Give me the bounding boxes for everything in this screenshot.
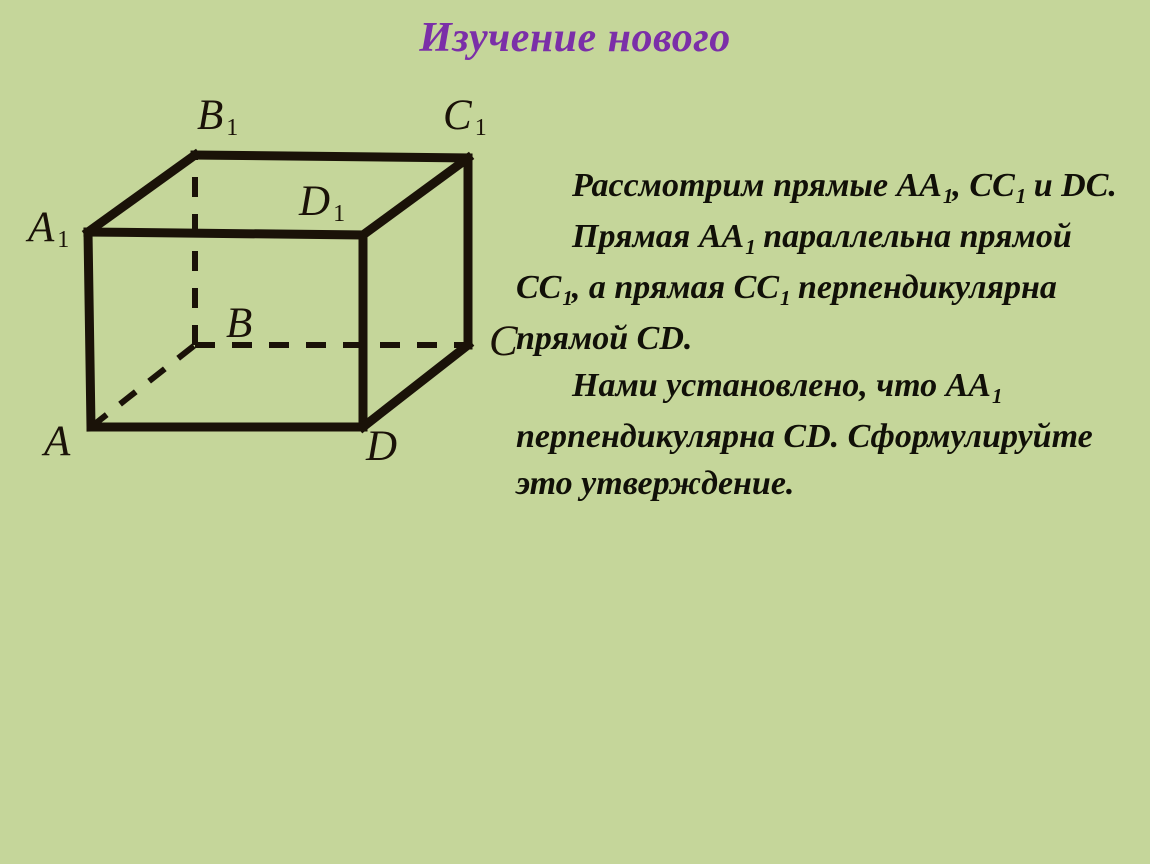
vertex-label-a: A [44, 420, 70, 463]
edge-A-B-dashed [91, 345, 195, 427]
edge-A1-A [88, 232, 91, 427]
edge-D-C [363, 345, 468, 427]
vertex-label-a1: A1 [28, 206, 66, 256]
paragraph-3: Нами установлено, что AA1 перпендикулярн… [516, 362, 1140, 507]
lesson-text-block: Рассмотрим прямые AA1, CC1 и DC. Прямая … [516, 162, 1140, 507]
edge-D1-A1 [88, 232, 363, 235]
vertex-label-b1: B1 [197, 94, 235, 144]
vertex-label-c: C [489, 320, 518, 363]
geometry-figure: A1 B1 C1 D1 A B C D [0, 80, 540, 500]
paragraph-2: Прямая AA1 параллельна прямой CC1, а пря… [516, 213, 1140, 362]
visible-edges-group [88, 155, 468, 427]
edge-C1-D1 [363, 158, 468, 235]
vertex-label-c1: C1 [443, 94, 484, 144]
edge-A1-B1 [88, 155, 195, 232]
paragraph-1: Рассмотрим прямые AA1, CC1 и DC. [516, 162, 1140, 213]
edge-B1-C1 [195, 155, 468, 158]
vertex-label-d1: D1 [299, 180, 342, 230]
slide-canvas: Изучение нового [0, 0, 1150, 864]
page-title: Изучение нового [0, 12, 1150, 64]
vertex-label-b: B [226, 302, 252, 345]
vertex-label-d: D [366, 425, 397, 468]
